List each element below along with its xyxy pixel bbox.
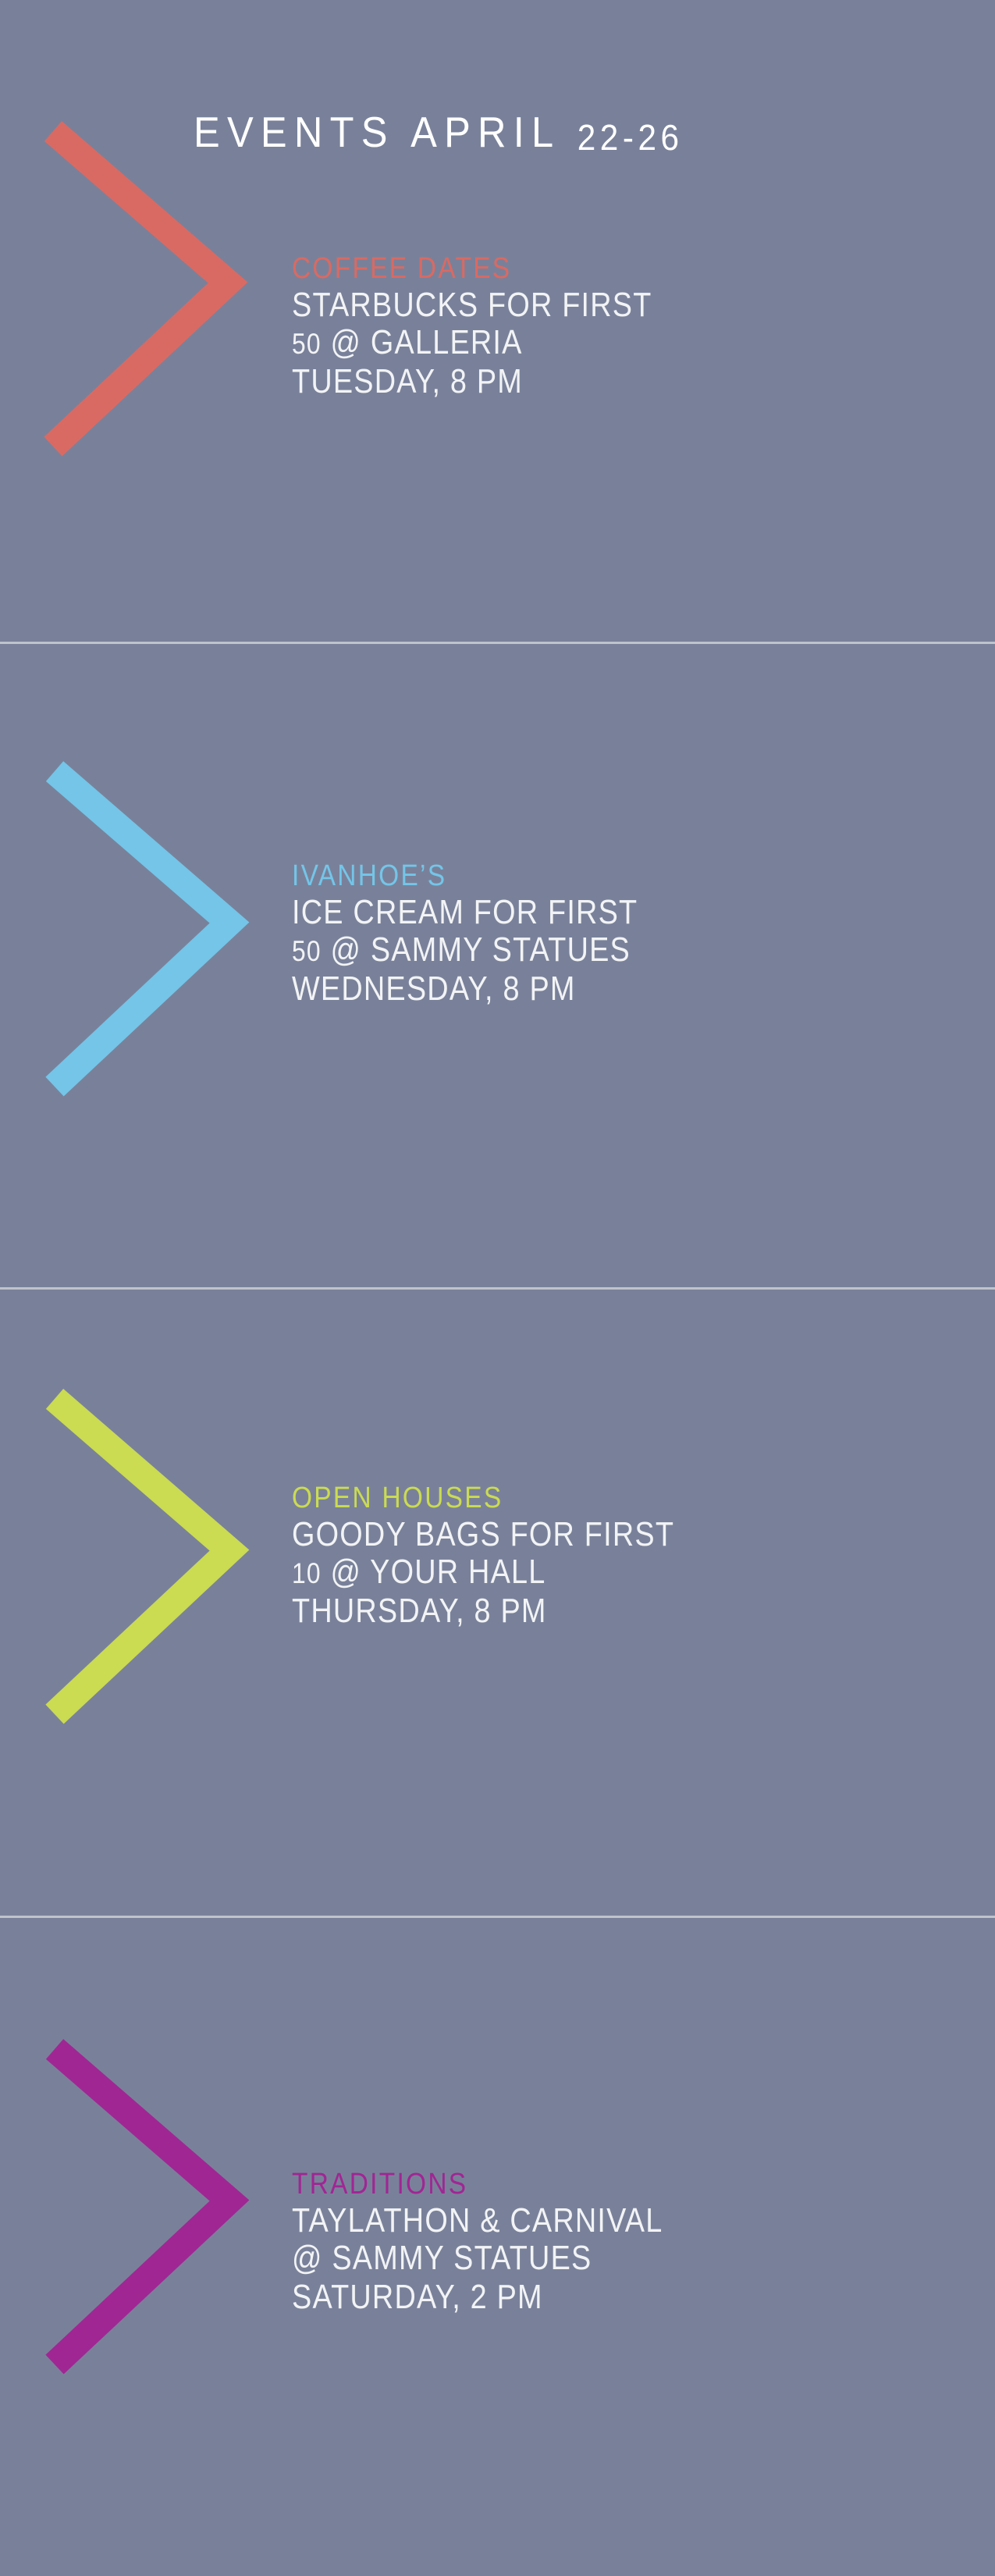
event-venue: @ GALLERIA: [322, 323, 523, 361]
events-poster: EVENTS APRIL 22-26 COFFEE DATES STARBUCK…: [0, 0, 995, 2576]
event-quantity: 10: [292, 1557, 322, 1589]
page-title-dates: 22-26: [577, 117, 684, 158]
event-text-block: IVANHOE’S ICE CREAM FOR FIRST 50 @ SAMMY…: [292, 859, 695, 1008]
event-venue: @ SAMMY STATUES: [322, 930, 631, 969]
event-detail-line: @ SAMMY STATUES: [292, 2240, 663, 2279]
event-datetime-line: THURSDAY, 8 PM: [292, 1592, 674, 1630]
event-title: COFFEE DATES: [292, 251, 660, 286]
event-title: TRADITIONS: [292, 2167, 672, 2202]
event-detail-line: GOODY BAGS FOR FIRST: [292, 1516, 674, 1553]
chevron-right-icon: [33, 757, 259, 1101]
event-section-coffee-dates: EVENTS APRIL 22-26 COFFEE DATES STARBUCK…: [0, 0, 995, 642]
event-text-block: COFFEE DATES STARBUCKS FOR FIRST 50 @ GA…: [292, 251, 711, 400]
event-title: IVANHOE’S: [292, 859, 646, 894]
event-text-block: TRADITIONS TAYLATHON & CARNIVAL @ SAMMY …: [292, 2167, 723, 2316]
event-title: OPEN HOUSES: [292, 1481, 684, 1516]
event-detail-line: STARBUCKS FOR FIRST: [292, 286, 652, 324]
event-detail-line: ICE CREAM FOR FIRST: [292, 894, 638, 931]
event-venue: @ YOUR HALL: [322, 1553, 546, 1591]
chevron-right-icon: [31, 117, 258, 461]
event-venue: @ SAMMY STATUES: [292, 2239, 592, 2277]
chevron-right-icon: [33, 1385, 259, 1728]
page-title-main: EVENTS APRIL: [194, 108, 559, 156]
event-quantity: 50: [292, 935, 322, 967]
event-text-block: OPEN HOUSES GOODY BAGS FOR FIRST 10 @ YO…: [292, 1481, 737, 1630]
event-detail-line: 10 @ YOUR HALL: [292, 1553, 674, 1592]
event-detail-line: 50 @ SAMMY STATUES: [292, 931, 638, 970]
event-detail-line: TAYLATHON & CARNIVAL: [292, 2202, 663, 2240]
page-title: EVENTS APRIL 22-26: [194, 111, 684, 154]
event-datetime-line: SATURDAY, 2 PM: [292, 2279, 663, 2316]
event-datetime-line: WEDNESDAY, 8 PM: [292, 970, 638, 1008]
event-detail-line: 50 @ GALLERIA: [292, 324, 652, 363]
event-quantity: 50: [292, 328, 322, 360]
chevron-right-icon: [33, 2035, 259, 2379]
event-datetime-line: TUESDAY, 8 PM: [292, 363, 652, 400]
